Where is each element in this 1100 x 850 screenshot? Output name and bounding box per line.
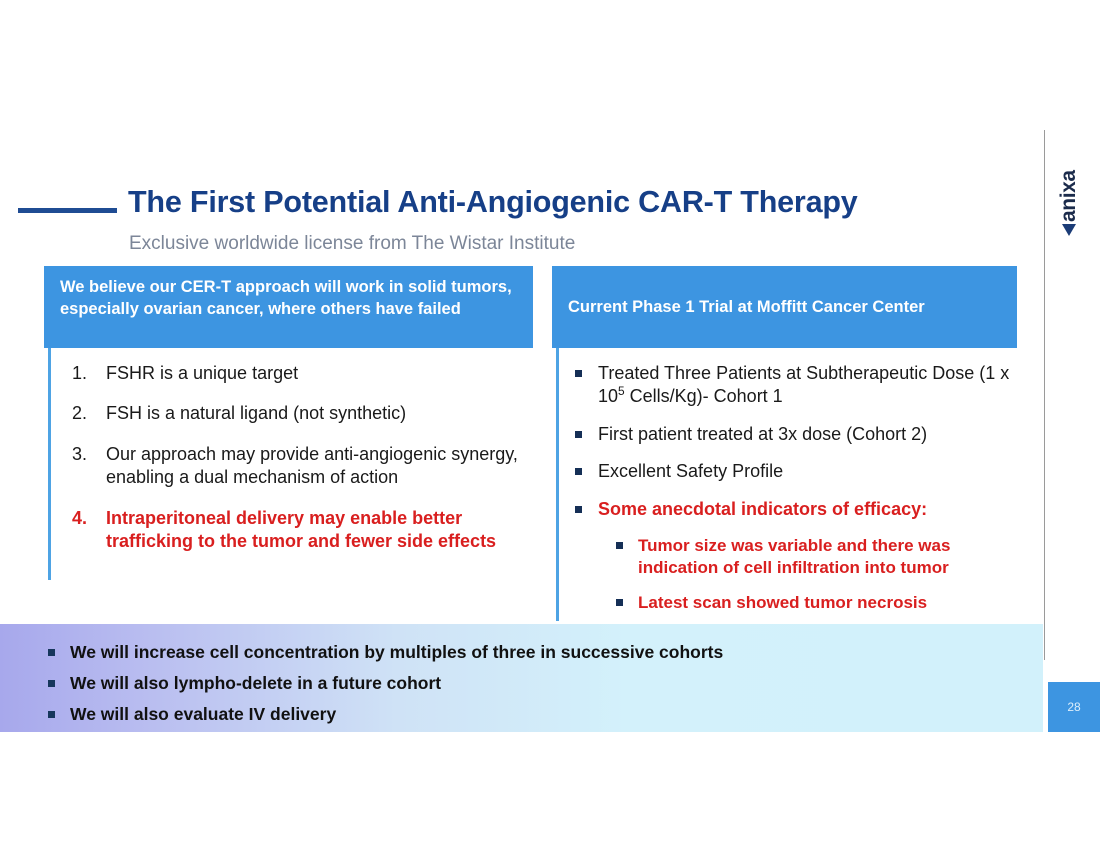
list-item-number: 2.	[72, 402, 100, 425]
list-item-superscript: 5	[618, 384, 625, 398]
page-subtitle: Exclusive worldwide license from The Wis…	[129, 233, 929, 256]
list-item-label: FSH is a natural ligand (not synthetic)	[106, 403, 406, 423]
list-item: 3. Our approach may provide anti-angioge…	[66, 443, 531, 490]
list-item-number: 1.	[72, 362, 100, 385]
anixa-logo: anixa	[1052, 126, 1086, 236]
list-item-label: We will increase cell concentration by m…	[70, 642, 723, 662]
list-item: Treated Three Patients at Subtherapeutic…	[572, 362, 1017, 409]
list-item: We will also lympho-delete in a future c…	[45, 672, 1043, 695]
slide-canvas: The First Potential Anti-Angiogenic CAR-…	[0, 0, 1100, 850]
square-bullet-icon	[575, 431, 582, 438]
right-panel-accent-rule	[556, 348, 559, 621]
right-sub-bullet-list: Tumor size was variable and there was in…	[572, 535, 1017, 614]
list-item: 2. FSH is a natural ligand (not syntheti…	[66, 402, 531, 425]
square-bullet-icon	[48, 711, 55, 718]
left-panel-accent-rule	[48, 348, 51, 580]
square-bullet-icon	[575, 468, 582, 475]
square-bullet-icon	[48, 680, 55, 687]
list-item-label-after: Cells/Kg)- Cohort 1	[625, 386, 783, 406]
sub-list-item: Tumor size was variable and there was in…	[614, 535, 1017, 579]
list-item-label: Intraperitoneal delivery may enable bett…	[106, 508, 496, 551]
list-item: We will increase cell concentration by m…	[45, 641, 1043, 664]
list-item-label: Excellent Safety Profile	[598, 461, 783, 481]
logo-wordmark: anixa	[1057, 170, 1081, 222]
right-panel-heading: Current Phase 1 Trial at Moffitt Cancer …	[552, 266, 1017, 348]
list-item: We will also evaluate IV delivery	[45, 703, 1043, 726]
bottom-band-list: We will increase cell concentration by m…	[0, 624, 1043, 725]
page-number-badge: 28	[1048, 682, 1100, 732]
right-panel-body: Treated Three Patients at Subtherapeutic…	[572, 362, 1017, 627]
list-item-highlighted: 4. Intraperitoneal delivery may enable b…	[66, 507, 531, 554]
left-numbered-list: 1. FSHR is a unique target 2. FSH is a n…	[66, 362, 531, 553]
list-item-label: We will also lympho-delete in a future c…	[70, 673, 441, 693]
list-item: 1. FSHR is a unique target	[66, 362, 531, 385]
list-item-number: 4.	[72, 507, 100, 530]
square-bullet-icon	[616, 542, 623, 549]
left-panel-body: 1. FSHR is a unique target 2. FSH is a n…	[66, 362, 531, 570]
page-title: The First Potential Anti-Angiogenic CAR-…	[128, 186, 1028, 218]
title-accent-dash	[18, 208, 117, 213]
list-item-label: We will also evaluate IV delivery	[70, 704, 336, 724]
list-item-label: FSHR is a unique target	[106, 363, 298, 383]
sub-list-item-label: Latest scan showed tumor necrosis	[638, 593, 927, 612]
list-item-number: 3.	[72, 443, 100, 466]
list-item-label: Some anecdotal indicators of efficacy:	[598, 499, 927, 519]
left-panel-heading: We believe our CER-T approach will work …	[44, 266, 533, 348]
right-bullet-list: Treated Three Patients at Subtherapeutic…	[572, 362, 1017, 521]
list-item: First patient treated at 3x dose (Cohort…	[572, 423, 1017, 446]
square-bullet-icon	[616, 599, 623, 606]
list-item: Excellent Safety Profile	[572, 460, 1017, 483]
right-rail-divider	[1044, 130, 1045, 660]
square-bullet-icon	[575, 506, 582, 513]
sub-list-item-label: Tumor size was variable and there was in…	[638, 536, 950, 577]
list-item-highlighted: Some anecdotal indicators of efficacy:	[572, 498, 1017, 521]
list-item-label: First patient treated at 3x dose (Cohort…	[598, 424, 927, 444]
left-panel: We believe our CER-T approach will work …	[44, 266, 533, 586]
list-item-label: Our approach may provide anti-angiogenic…	[106, 444, 518, 487]
triangle-mark-icon	[1062, 224, 1076, 236]
square-bullet-icon	[48, 649, 55, 656]
sub-list-item: Latest scan showed tumor necrosis	[614, 592, 1017, 614]
bottom-summary-band: We will increase cell concentration by m…	[0, 624, 1043, 732]
right-panel: Current Phase 1 Trial at Moffitt Cancer …	[552, 266, 1017, 626]
square-bullet-icon	[575, 370, 582, 377]
